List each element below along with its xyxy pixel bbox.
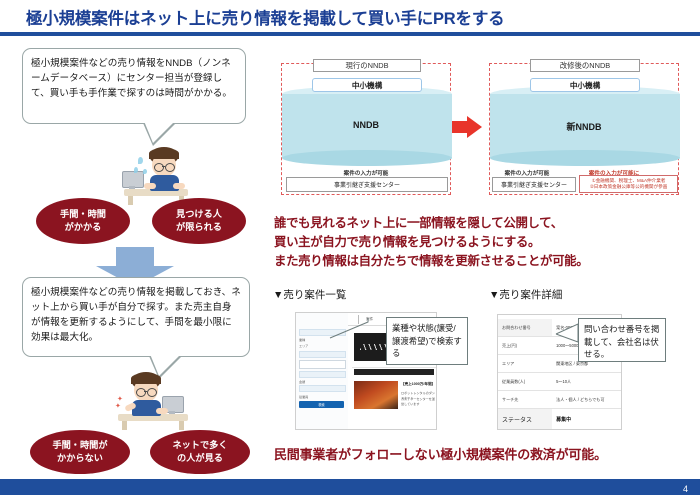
filter-field-4[interactable] [299,371,346,378]
detail-key: 売上(円) [498,337,552,354]
stressed-worker-illustration [118,143,196,205]
problem-oval-reach-line1: 見つける人 [176,209,222,219]
detail-key: ステータス [498,409,552,429]
key-statement-line2: 買い主が自力で売り情報を見つけるようにする。 [274,233,588,252]
problem-bubble-text: 極小規模案件などの売り情報をNNDB（ノンネームデータベース）にセンター担当が登… [31,58,232,99]
mock-search-button-label: 検索 [299,402,344,407]
benefit-oval-time-line2: かからない [57,453,103,463]
benefit-oval-reach-line2: の人が見る [177,453,223,463]
key-statement-line3: また売り情報は自分たちで情報を更新させることが可能。 [274,252,588,271]
detail-value: 5〜10人 [552,373,621,390]
table-row: 従業員数(人) 5〜10人 [498,373,621,391]
table-row: ステータス 募集中 [498,409,621,429]
benefit-oval-reach: ネットで多く の人が見る [150,430,250,474]
filter-label-2: エリア [299,343,308,348]
filter-label-4: 従業員 [299,394,308,399]
detail-value: 募集中 [552,409,621,429]
nndb-current-entity: 事業引継ぎ支援センター [286,177,448,192]
footer-bar: 4 [0,479,700,495]
detail-key: サーチ先 [498,391,552,408]
list-separator-bar [354,369,434,375]
nndb-current-caption: 現行のNNDB [313,59,421,72]
problem-speech-bubble: 極小規模案件などの売り情報をNNDB（ノンネームデータベース）にセンター担当が登… [22,48,246,124]
nndb-revised-panel: 改修後のNNDB 中小機構 新NNDB 案件の入力が可能 案件の入力が可能に 事… [489,63,679,195]
list-item-line2: カルチャーセンターを運営しています [401,396,436,406]
problem-oval-time-line1: 手間・時間 [60,209,106,219]
list-item-title: 【売上1000万/年間】 [401,382,435,387]
key-statement-line1: 誰でも見れるネット上に一部情報を隠して公開して、 [274,214,588,233]
key-statement: 誰でも見れるネット上に一部情報を隠して公開して、 買い主が自力で売り情報を見つけ… [274,214,588,271]
nndb-revised-entity-right-line2: ②日本政策金融公庫等公的機関が参画 [590,184,668,191]
detail-key: エリア [498,355,552,372]
nndb-current-org: 中小機構 [312,78,422,92]
bubble-tail-fill [144,121,175,143]
nndb-current-panel: 現行のNNDB 中小機構 NNDB 案件の入力が可能 事業引継ぎ支援センター [281,63,451,195]
page-title: 極小規模案件はネット上に売り情報を掲載して買い手にPRをする [26,5,504,29]
problem-oval-reach: 見つける人 が限られる [152,198,246,244]
title-divider [0,32,700,36]
detail-key: お問合わせ番号 [498,319,552,336]
detail-section-heading: ▼売り案件詳細 [489,287,562,302]
table-row: サーチ先 法人・個人 / どちらでも可 [498,391,621,409]
list-section-heading: ▼売り案件一覧 [273,287,346,302]
solution-bubble-text: 極小規模案件などの売り情報を掲載しておき、ネット上から買い手が自分で探す。また売… [31,287,241,343]
filter-field-3[interactable] [299,360,346,369]
problem-oval-time: 手間・時間 がかかる [36,198,130,244]
solution-speech-bubble: 極小規模案件などの売り情報を掲載しておき、ネット上から買い手が自分で探す。また売… [22,277,250,357]
filter-label-3: 金額 [299,379,305,384]
transform-arrow-icon [452,116,482,138]
detail-key: 従業員数(人) [498,373,552,390]
nndb-revised-db-label: 新NNDB [490,120,678,133]
page-number: 4 [683,484,688,494]
list-callout: 業種や状態(譲受/譲渡希望)で検索する [386,317,468,365]
benefit-oval-reach-line1: ネットで多く [172,440,227,450]
detail-value: 法人・個人 / どちらでも可 [552,391,621,408]
slide-title-bar: 極小規模案件はネット上に売り情報を掲載して買い手にPRをする [0,0,700,36]
nndb-revised-entity-left: 事業引継ぎ支援センター [492,177,576,192]
filter-field-5[interactable] [299,385,346,392]
nndb-revised-caption: 改修後のNNDB [530,59,640,72]
benefit-oval-time-line1: 手間・時間が [52,440,107,450]
problem-oval-reach-line2: が限られる [176,222,222,232]
nndb-current-note: 案件の入力が可能 [282,169,450,177]
happy-worker-illustration: ✦ ✦ [112,368,198,430]
problem-oval-time-line2: がかかる [65,222,102,232]
detail-callout: 問い合わせ番号を掲載して、会社名は伏せる。 [578,318,666,362]
filter-label-1: 業種 [299,337,305,342]
nndb-revised-entity-right: ①金融機関、税理士、M&A仲介業者 ②日本政策金融公庫等公的機関が参画 [579,175,678,193]
list-item[interactable]: 【売上1000万/年間】 ロボットレンタルのダンスホール カルチャーセンターを運… [352,379,436,415]
nndb-current-db-label: NNDB [282,120,450,130]
closing-statement: 民間事業者がフォローしない極小規模案件の救済が可能。 [274,444,607,463]
benefit-oval-time: 手間・時間が かからない [30,430,130,474]
mock-search-button[interactable]: 検索 [299,401,344,408]
slide-root: 極小規模案件はネット上に売り情報を掲載して買い手にPRをする 極小規模案件などの… [0,0,700,495]
nndb-revised-org: 中小機構 [530,78,640,92]
